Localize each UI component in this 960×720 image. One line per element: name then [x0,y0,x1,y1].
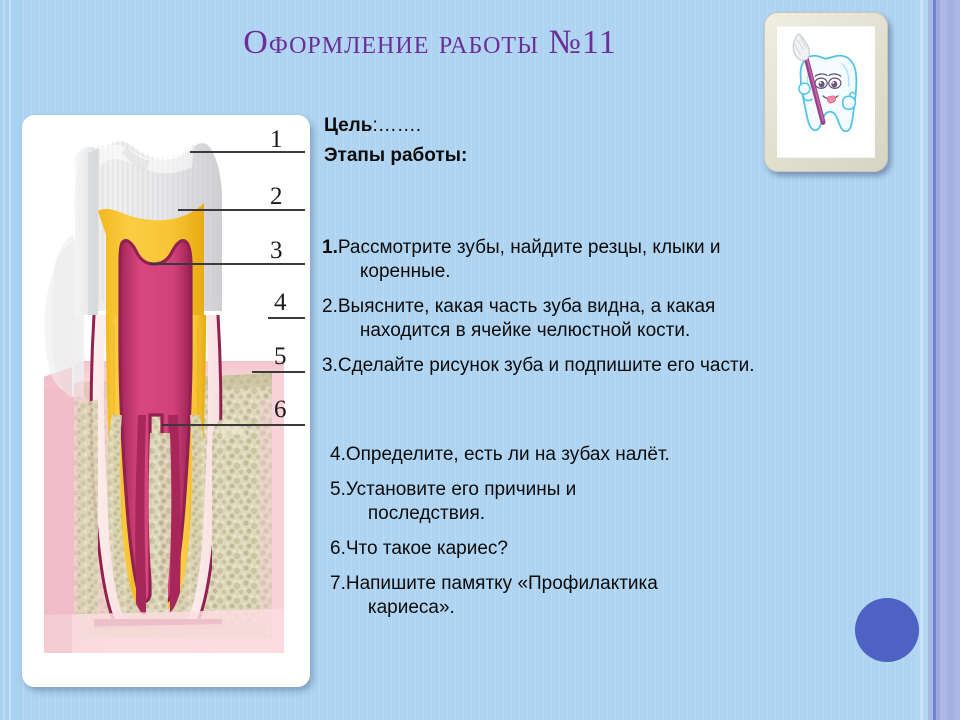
list-item: 7. Напишите памятку «Профилактика кариес… [330,572,930,620]
task-line-1: Выясните, какая часть зуба видна, а кака… [338,296,716,317]
task-line-1: Что такое кариес? [346,538,508,559]
task-marker: 2. [322,295,338,319]
task-line-2: кариеса». [346,596,930,620]
task-marker: 4. [330,443,346,467]
goal-dots: :……. [372,115,421,136]
task-marker: 1. [322,236,338,260]
list-item: 1. Рассмотрите зубы, найдите резцы, клык… [322,236,922,284]
list-item: 6. Что такое кариес? [330,537,930,561]
task-line-2: коренные. [338,260,922,284]
list-item: 3. Сделайте рисунок зуба и подпишите его… [322,354,922,378]
task-line-1: Рассмотрите зубы, найдите резцы, клыки и [338,237,721,258]
task-text: Установите его причины и последствия. [346,478,930,526]
task-marker: 5. [330,478,346,502]
task-line-1: Сделайте рисунок зуба и подпишите его ча… [338,355,755,376]
slide-canvas: Оформление работы №11 [0,0,960,720]
task-marker: 3. [322,354,338,378]
task-line-2: находится в ячейке челюстной кости. [338,319,922,343]
list-item: 4. Определите, есть ли на зубах налёт. [330,443,930,467]
goal-line: Цель:……. [324,113,421,138]
decorative-circle [855,598,919,662]
task-line-1: Напишите памятку «Профилактика [346,573,658,594]
tooth-diagram-card [22,115,310,687]
callout-number-3: 3 [270,238,283,263]
task-text: Что такое кариес? [346,537,930,561]
task-list-secondary: 4. Определите, есть ли на зубах налёт. 5… [330,443,930,631]
goal-label: Цель [324,115,372,136]
callout-number-1: 1 [270,127,283,152]
callout-number-2: 2 [270,184,283,209]
tooth-cross-section-diagram [22,115,310,687]
left-edge-band [0,0,22,720]
cartoon-tooth-frame [764,12,888,172]
task-list-primary: 1. Рассмотрите зубы, найдите резцы, клык… [322,236,922,389]
task-text: Определите, есть ли на зубах налёт. [346,443,930,467]
task-line-2: последствия. [346,502,930,526]
list-item: 5. Установите его причины и последствия. [330,478,930,526]
task-marker: 7. [330,572,346,596]
task-line-1: Установите его причины и [346,479,576,500]
cartoon-tooth-icon [777,26,875,158]
task-text: Сделайте рисунок зуба и подпишите его ча… [338,354,922,378]
stages-heading: Этапы работы: [324,145,467,167]
list-item: 2. Выясните, какая часть зуба видна, а к… [322,295,922,343]
callout-number-5: 5 [274,344,287,369]
task-text: Выясните, какая часть зуба видна, а кака… [338,295,922,343]
callout-number-6: 6 [274,397,287,422]
task-text: Рассмотрите зубы, найдите резцы, клыки и… [338,236,922,284]
task-line-1: Определите, есть ли на зубах налёт. [346,444,670,465]
page-title: Оформление работы №11 [150,24,710,62]
task-marker: 6. [330,537,346,561]
callout-number-4: 4 [274,290,287,315]
cartoon-tooth-image [777,26,875,158]
task-text: Напишите памятку «Профилактика кариеса». [346,572,930,620]
